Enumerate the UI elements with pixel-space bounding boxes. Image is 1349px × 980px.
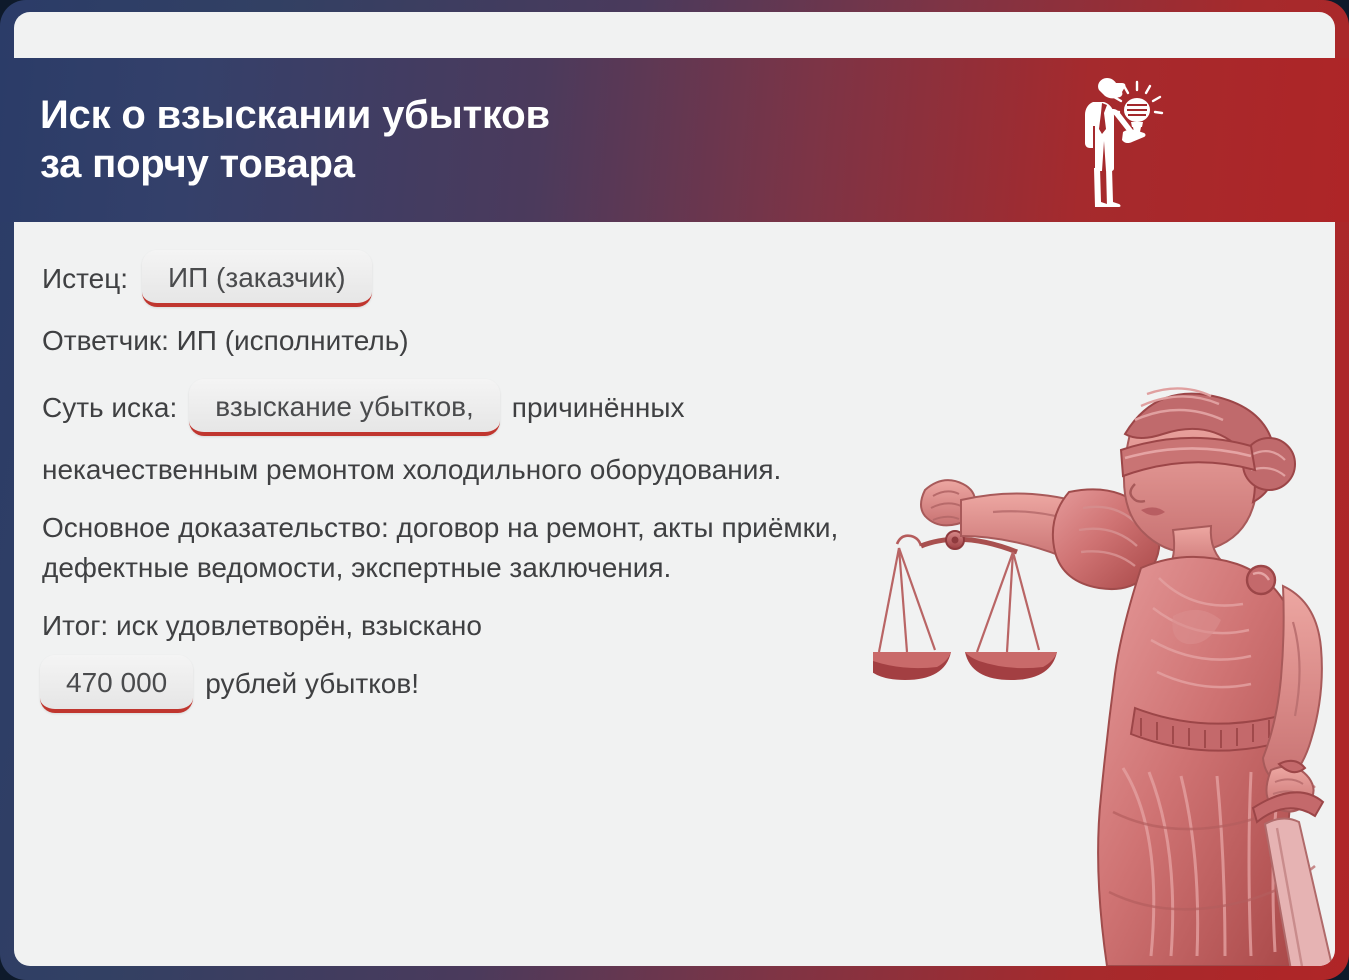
result-row: 470 000 рублей убытков! bbox=[28, 655, 1295, 712]
result-amount-chip[interactable]: 470 000 bbox=[40, 655, 193, 712]
claim-tail-text: причинённых bbox=[512, 392, 685, 424]
card-top-strip bbox=[14, 12, 1335, 58]
claim-label: Суть иска: bbox=[42, 392, 177, 424]
result-lead-text: Итог: иск удовлетворён, взыскано bbox=[42, 606, 972, 646]
plaintiff-row: Истец: ИП (заказчик) bbox=[42, 250, 1295, 307]
info-card: Иск о взыскании убытков за порчу товара bbox=[0, 0, 1349, 980]
claim-highlight-chip[interactable]: взыскание убытков, bbox=[189, 379, 500, 436]
result-tail-text: рублей убытков! bbox=[205, 668, 419, 700]
card-header: Иск о взыскании убытков за порчу товара bbox=[0, 58, 1349, 222]
businessman-with-lightbulb-icon bbox=[1071, 60, 1191, 220]
card-content: Истец: ИП (заказчик) Ответчик: ИП (испол… bbox=[14, 222, 1335, 713]
page-title: Иск о взыскании убытков за порчу товара bbox=[40, 91, 550, 189]
card-body: Истец: ИП (заказчик) Ответчик: ИП (испол… bbox=[14, 222, 1335, 966]
claim-row: Суть иска: взыскание убытков, причинённы… bbox=[42, 379, 1295, 436]
evidence-line: Основное доказательство: договор на ремо… bbox=[42, 508, 942, 588]
plaintiff-label: Истец: bbox=[42, 263, 128, 295]
claim-continued-text: некачественным ремонтом холодильного обо… bbox=[42, 450, 922, 490]
defendant-line: Ответчик: ИП (исполнитель) bbox=[42, 321, 972, 361]
plaintiff-value-chip[interactable]: ИП (заказчик) bbox=[142, 250, 372, 307]
